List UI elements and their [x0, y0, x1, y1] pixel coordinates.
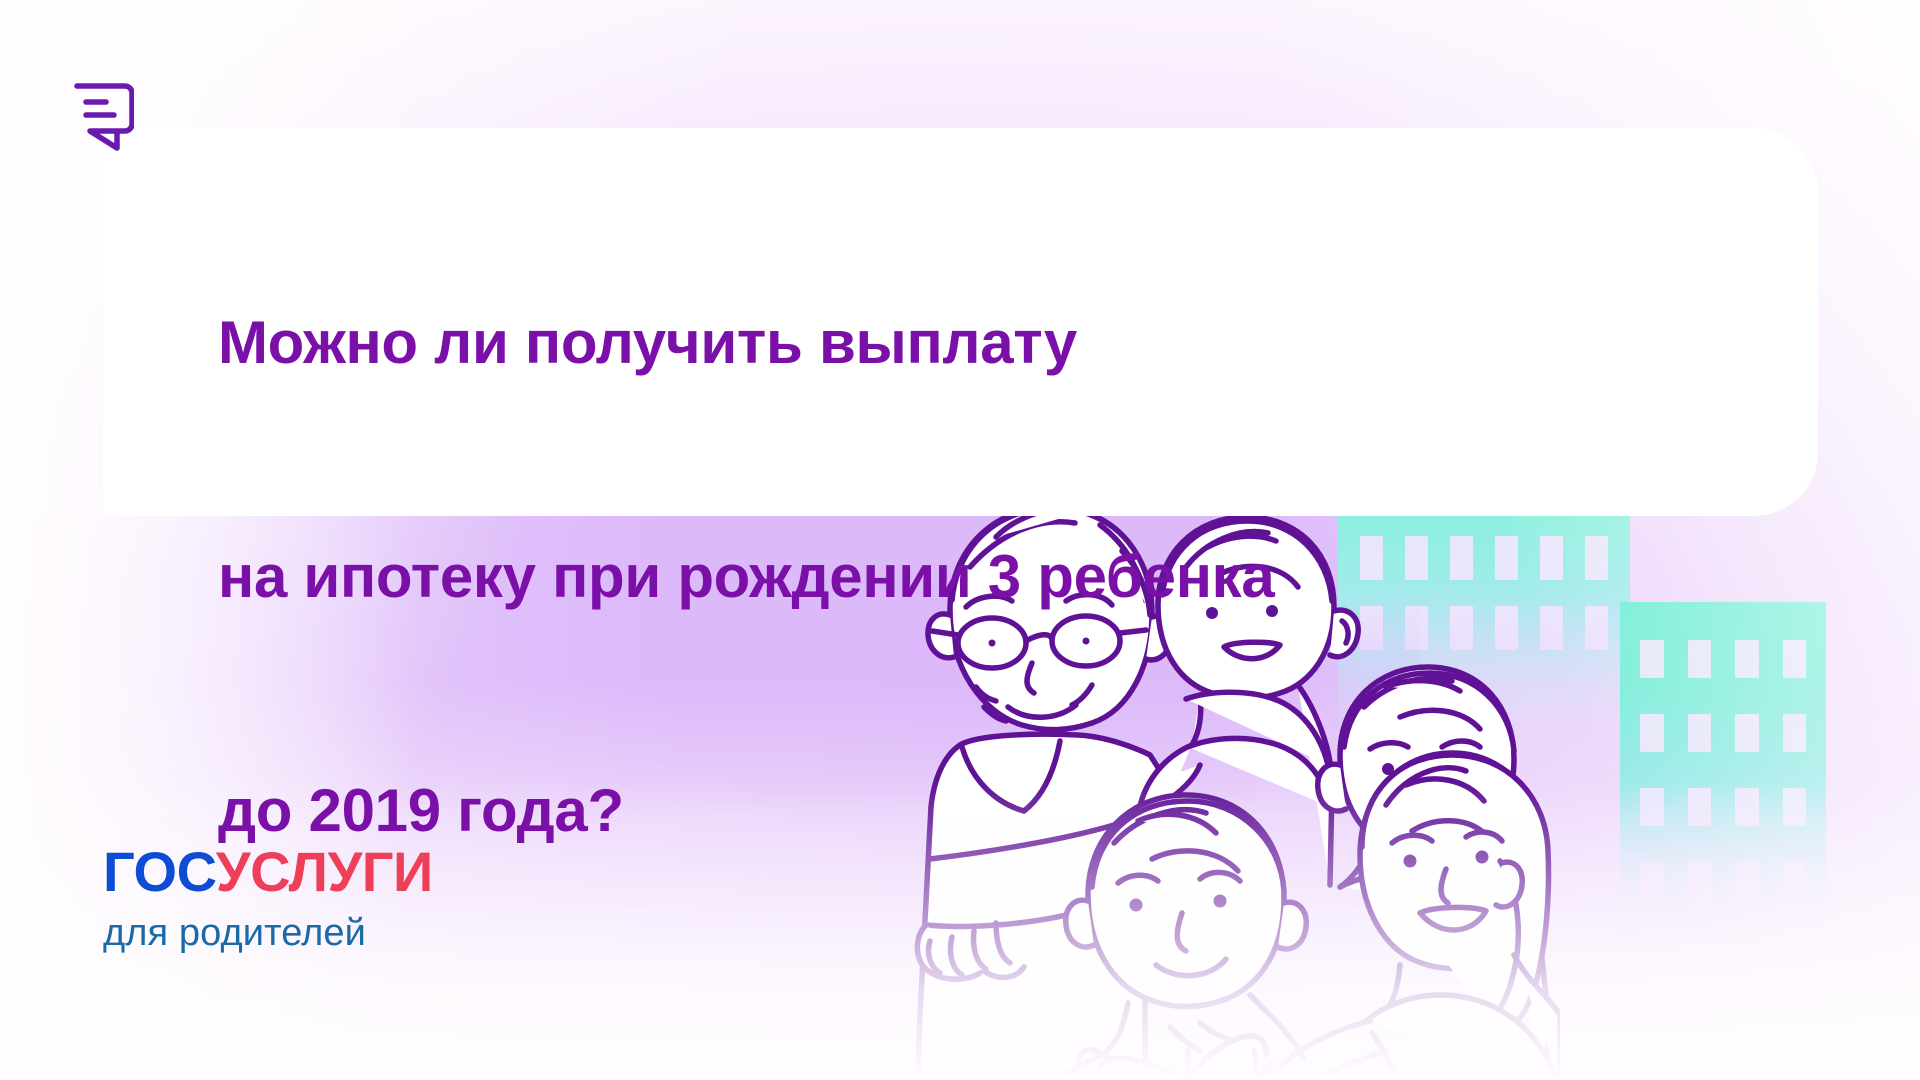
- logo-wordmark: ГОСУСЛУГИ: [103, 844, 433, 900]
- headline-line-3: до 2019 года?: [218, 772, 1274, 850]
- logo-wordmark-gos: ГОС: [103, 840, 216, 903]
- speech-bubble-icon: [68, 82, 134, 152]
- headline-line-1: Можно ли получить выплату: [218, 304, 1274, 382]
- banner-canvas: Можно ли получить выплату на ипотеку при…: [0, 0, 1920, 1080]
- headline-line-2: на ипотеку при рождении 3 ребенка: [218, 538, 1274, 616]
- logo-wordmark-uslugi: УСЛУГИ: [216, 840, 433, 903]
- logo-subtitle: для родителей: [103, 914, 433, 952]
- headline-card: Можно ли получить выплату на ипотеку при…: [103, 128, 1818, 516]
- gosuslugi-logo: ГОСУСЛУГИ для родителей: [103, 844, 433, 952]
